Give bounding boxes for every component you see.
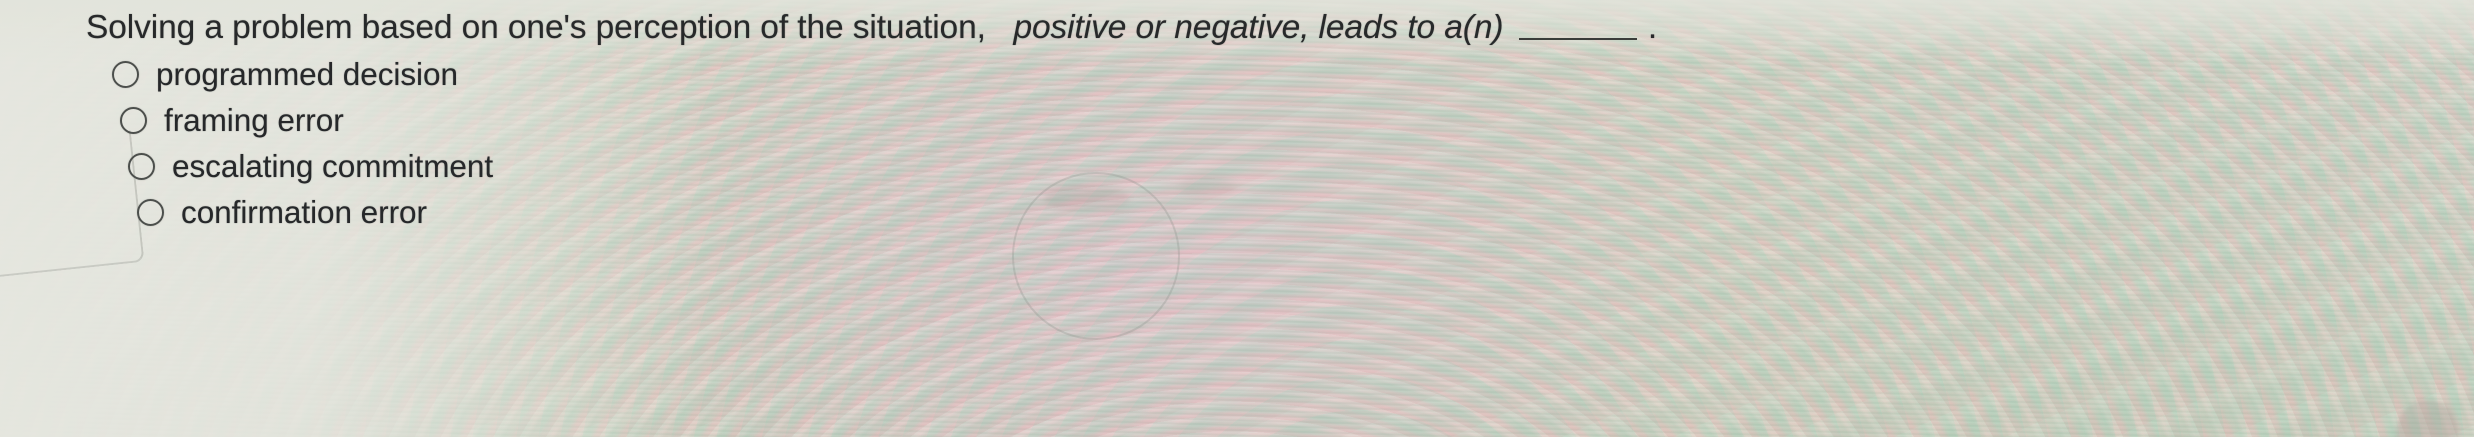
quiz-question-screenshot: Solving a problem based on one's percept… xyxy=(0,0,2474,437)
answer-option-a-label: programmed decision xyxy=(156,56,458,92)
question-stem-italic: positive or negative, leads to a(n) xyxy=(1013,9,1503,46)
answer-option-d[interactable]: confirmation error xyxy=(137,194,427,230)
question-blank xyxy=(1519,14,1637,40)
answer-option-a[interactable]: programmed decision xyxy=(112,56,458,92)
answer-option-b-label: framing error xyxy=(164,102,344,138)
answer-option-c[interactable]: escalating commitment xyxy=(128,148,493,184)
answer-option-b[interactable]: framing error xyxy=(120,102,344,138)
answer-option-c-label: escalating commitment xyxy=(172,148,493,184)
question-stem: Solving a problem based on one's percept… xyxy=(86,6,2454,50)
radio-unchecked-icon[interactable] xyxy=(128,153,155,180)
question-stem-roman: Solving a problem based on one's percept… xyxy=(86,9,986,46)
question-content: Solving a problem based on one's percept… xyxy=(0,0,2474,437)
radio-unchecked-icon[interactable] xyxy=(120,107,147,134)
answer-option-d-label: confirmation error xyxy=(181,194,427,230)
question-period: . xyxy=(1648,9,1657,46)
radio-unchecked-icon[interactable] xyxy=(137,199,164,226)
radio-unchecked-icon[interactable] xyxy=(112,61,139,88)
